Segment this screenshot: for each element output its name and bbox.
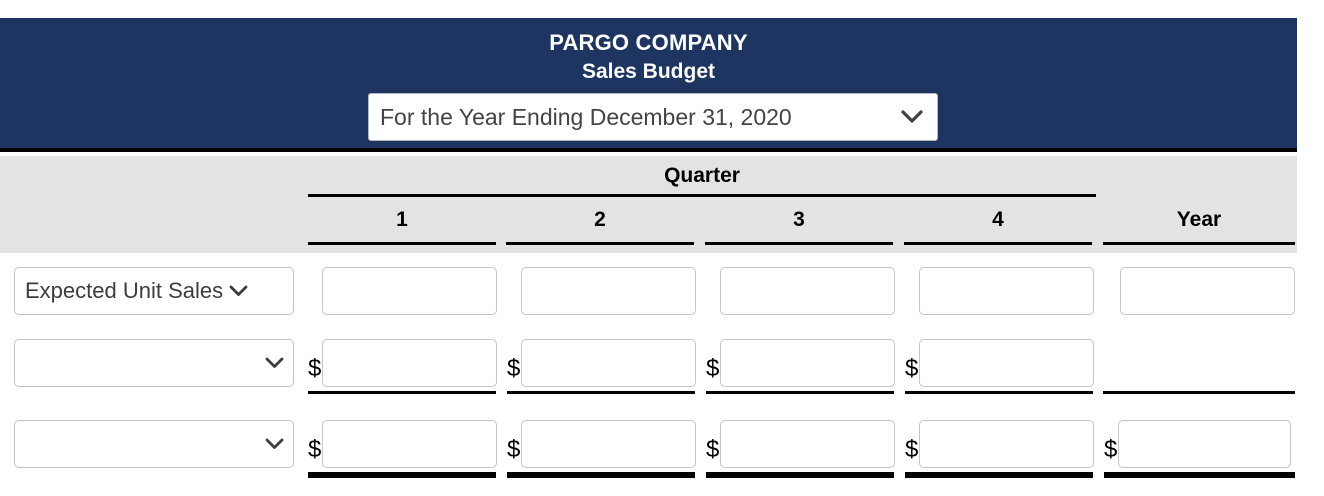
column-rule-q1 <box>308 242 496 245</box>
chevron-down-icon <box>265 438 284 450</box>
cell-q3 <box>720 267 895 315</box>
amount-input-r1-q2[interactable] <box>521 267 696 315</box>
amount-input-r2-q2[interactable] <box>521 339 696 387</box>
table-row: $ $ $ $ <box>0 328 1324 410</box>
period-select[interactable]: For the Year Ending December 31, 2020 <box>368 93 938 141</box>
cell-year: $ <box>1104 420 1291 468</box>
column-header-band: Quarter 1 2 3 4 Year <box>0 156 1297 253</box>
amount-input-r1-q1[interactable] <box>322 267 497 315</box>
subtotal-rule-q3 <box>706 391 894 394</box>
amount-input-r1-q4[interactable] <box>919 267 1094 315</box>
subtotal-rule-q4 <box>905 391 1093 394</box>
amount-input-r3-year[interactable] <box>1118 420 1291 468</box>
column-rule-q4 <box>904 242 1092 245</box>
cell-q2: $ <box>507 420 696 468</box>
chevron-down-icon <box>265 357 284 369</box>
amount-input-r3-q4[interactable] <box>919 420 1094 468</box>
period-select-value: For the Year Ending December 31, 2020 <box>380 104 901 131</box>
chevron-down-icon <box>901 110 923 124</box>
cell-q4: $ <box>905 420 1094 468</box>
table-row: $ $ $ $ $ <box>0 410 1324 496</box>
currency-symbol: $ <box>507 357 520 387</box>
currency-symbol: $ <box>905 438 918 468</box>
currency-symbol: $ <box>308 438 321 468</box>
subtotal-rule-q1 <box>308 391 496 394</box>
amount-input-r3-q1[interactable] <box>322 420 497 468</box>
amount-input-r3-q2[interactable] <box>521 420 696 468</box>
cell-q1: $ <box>308 339 497 387</box>
row-label-select-3[interactable] <box>14 420 294 468</box>
column-header-q2: 2 <box>506 208 694 232</box>
table-row: Expected Unit Sales <box>0 253 1324 328</box>
currency-symbol: $ <box>308 357 321 387</box>
column-header-year: Year <box>1103 208 1295 232</box>
budget-rows-area: Expected Unit Sales <box>0 253 1324 496</box>
row-label-select-2[interactable] <box>14 339 294 387</box>
currency-symbol: $ <box>706 438 719 468</box>
total-rule-q1 <box>308 472 496 478</box>
cell-q4: $ <box>905 339 1094 387</box>
cell-q3: $ <box>706 420 895 468</box>
quarter-group-header: Quarter <box>308 164 1096 188</box>
amount-input-r1-q3[interactable] <box>720 267 895 315</box>
cell-year <box>1120 267 1295 315</box>
cell-q2 <box>521 267 696 315</box>
subtotal-rule-year <box>1103 391 1295 394</box>
cell-q1: $ <box>308 420 497 468</box>
total-rule-q4 <box>905 472 1093 478</box>
column-header-q4: 4 <box>904 208 1092 232</box>
cell-q3: $ <box>706 339 895 387</box>
quarter-group-rule <box>308 194 1096 197</box>
total-rule-q3 <box>706 472 894 478</box>
currency-symbol: $ <box>1104 438 1117 468</box>
cell-q1 <box>322 267 497 315</box>
report-name: Sales Budget <box>0 60 1297 83</box>
amount-input-r2-q4[interactable] <box>919 339 1094 387</box>
amount-input-r1-year[interactable] <box>1120 267 1295 315</box>
currency-symbol: $ <box>905 357 918 387</box>
subtotal-rule-q2 <box>507 391 695 394</box>
company-name: PARGO COMPANY <box>0 31 1297 55</box>
column-header-q3: 3 <box>705 208 893 232</box>
currency-symbol: $ <box>706 357 719 387</box>
report-title-banner: PARGO COMPANY Sales Budget For the Year … <box>0 18 1297 152</box>
column-header-q1: 1 <box>308 208 496 232</box>
cell-q2: $ <box>507 339 696 387</box>
amount-input-r3-q3[interactable] <box>720 420 895 468</box>
chevron-down-icon <box>229 285 248 297</box>
total-rule-year <box>1104 472 1295 478</box>
column-rule-year <box>1103 242 1295 245</box>
sales-budget-sheet: PARGO COMPANY Sales Budget For the Year … <box>0 0 1324 496</box>
column-rule-q2 <box>506 242 694 245</box>
amount-input-r2-q1[interactable] <box>322 339 497 387</box>
column-rule-q3 <box>705 242 893 245</box>
total-rule-q2 <box>507 472 695 478</box>
row-label-select-expected-unit-sales[interactable]: Expected Unit Sales <box>14 267 294 315</box>
currency-symbol: $ <box>507 438 520 468</box>
row-label-select-value: Expected Unit Sales <box>25 278 223 304</box>
amount-input-r2-q3[interactable] <box>720 339 895 387</box>
period-select-wrapper: For the Year Ending December 31, 2020 <box>368 93 938 141</box>
cell-q4 <box>919 267 1094 315</box>
